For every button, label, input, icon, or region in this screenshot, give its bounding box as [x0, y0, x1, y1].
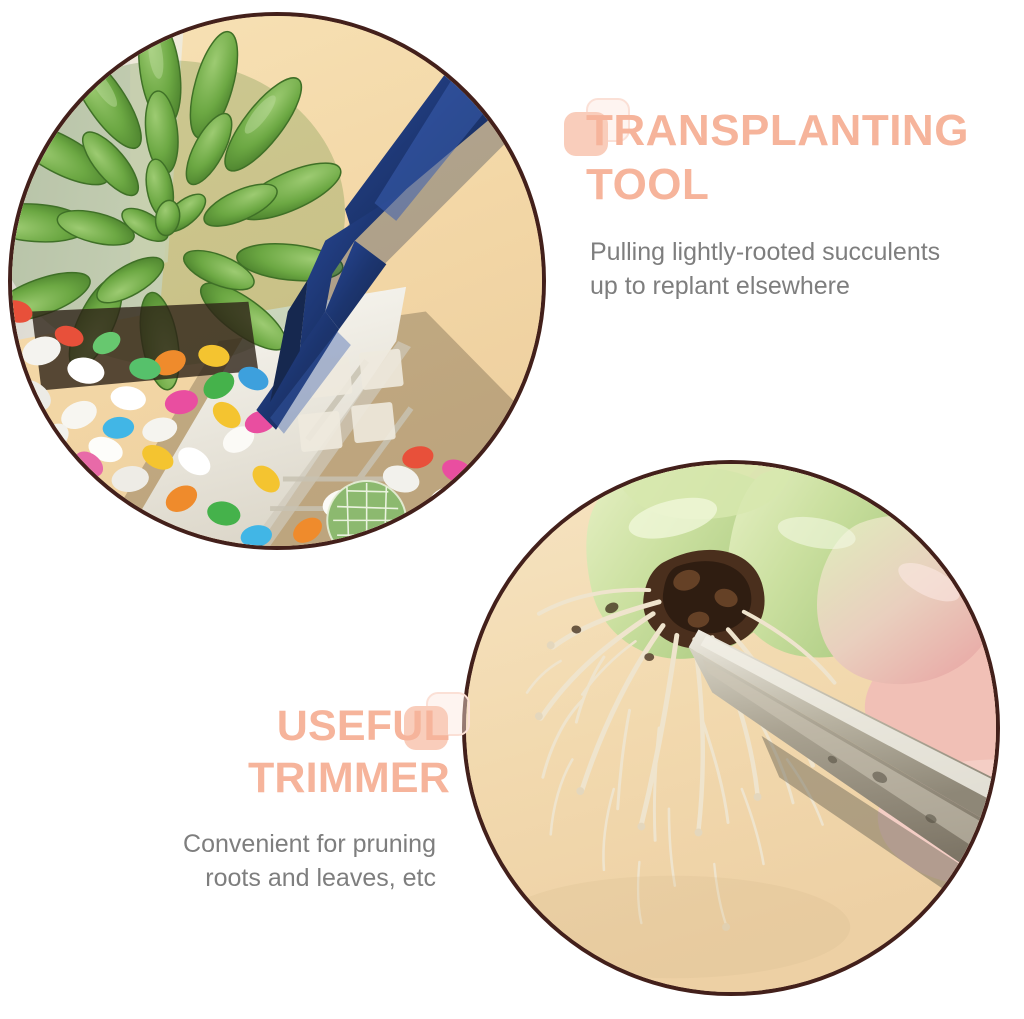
infographic-canvas: TRANSPLANTING TOOL Pulling lightly-roote…	[0, 0, 1024, 1019]
feature-heading-transplanting: TRANSPLANTING TOOL	[586, 104, 1006, 211]
feature-body-trimmer: Convenient for pruning roots and leaves,…	[70, 827, 436, 895]
transplanting-photo-illustration	[12, 16, 542, 546]
photo-circle-trimmer	[462, 460, 1000, 996]
feature-block-transplanting: TRANSPLANTING TOOL Pulling lightly-roote…	[586, 104, 1006, 303]
feature-heading-trimmer: USEFUL TRIMMER	[70, 700, 450, 805]
feature-body-transplanting: Pulling lightly-rooted succulents up to …	[590, 235, 1006, 303]
feature-block-trimmer: USEFUL TRIMMER Convenient for pruning ro…	[70, 700, 450, 895]
trimmer-photo-illustration	[466, 464, 996, 992]
photo-circle-transplanting	[8, 12, 546, 550]
